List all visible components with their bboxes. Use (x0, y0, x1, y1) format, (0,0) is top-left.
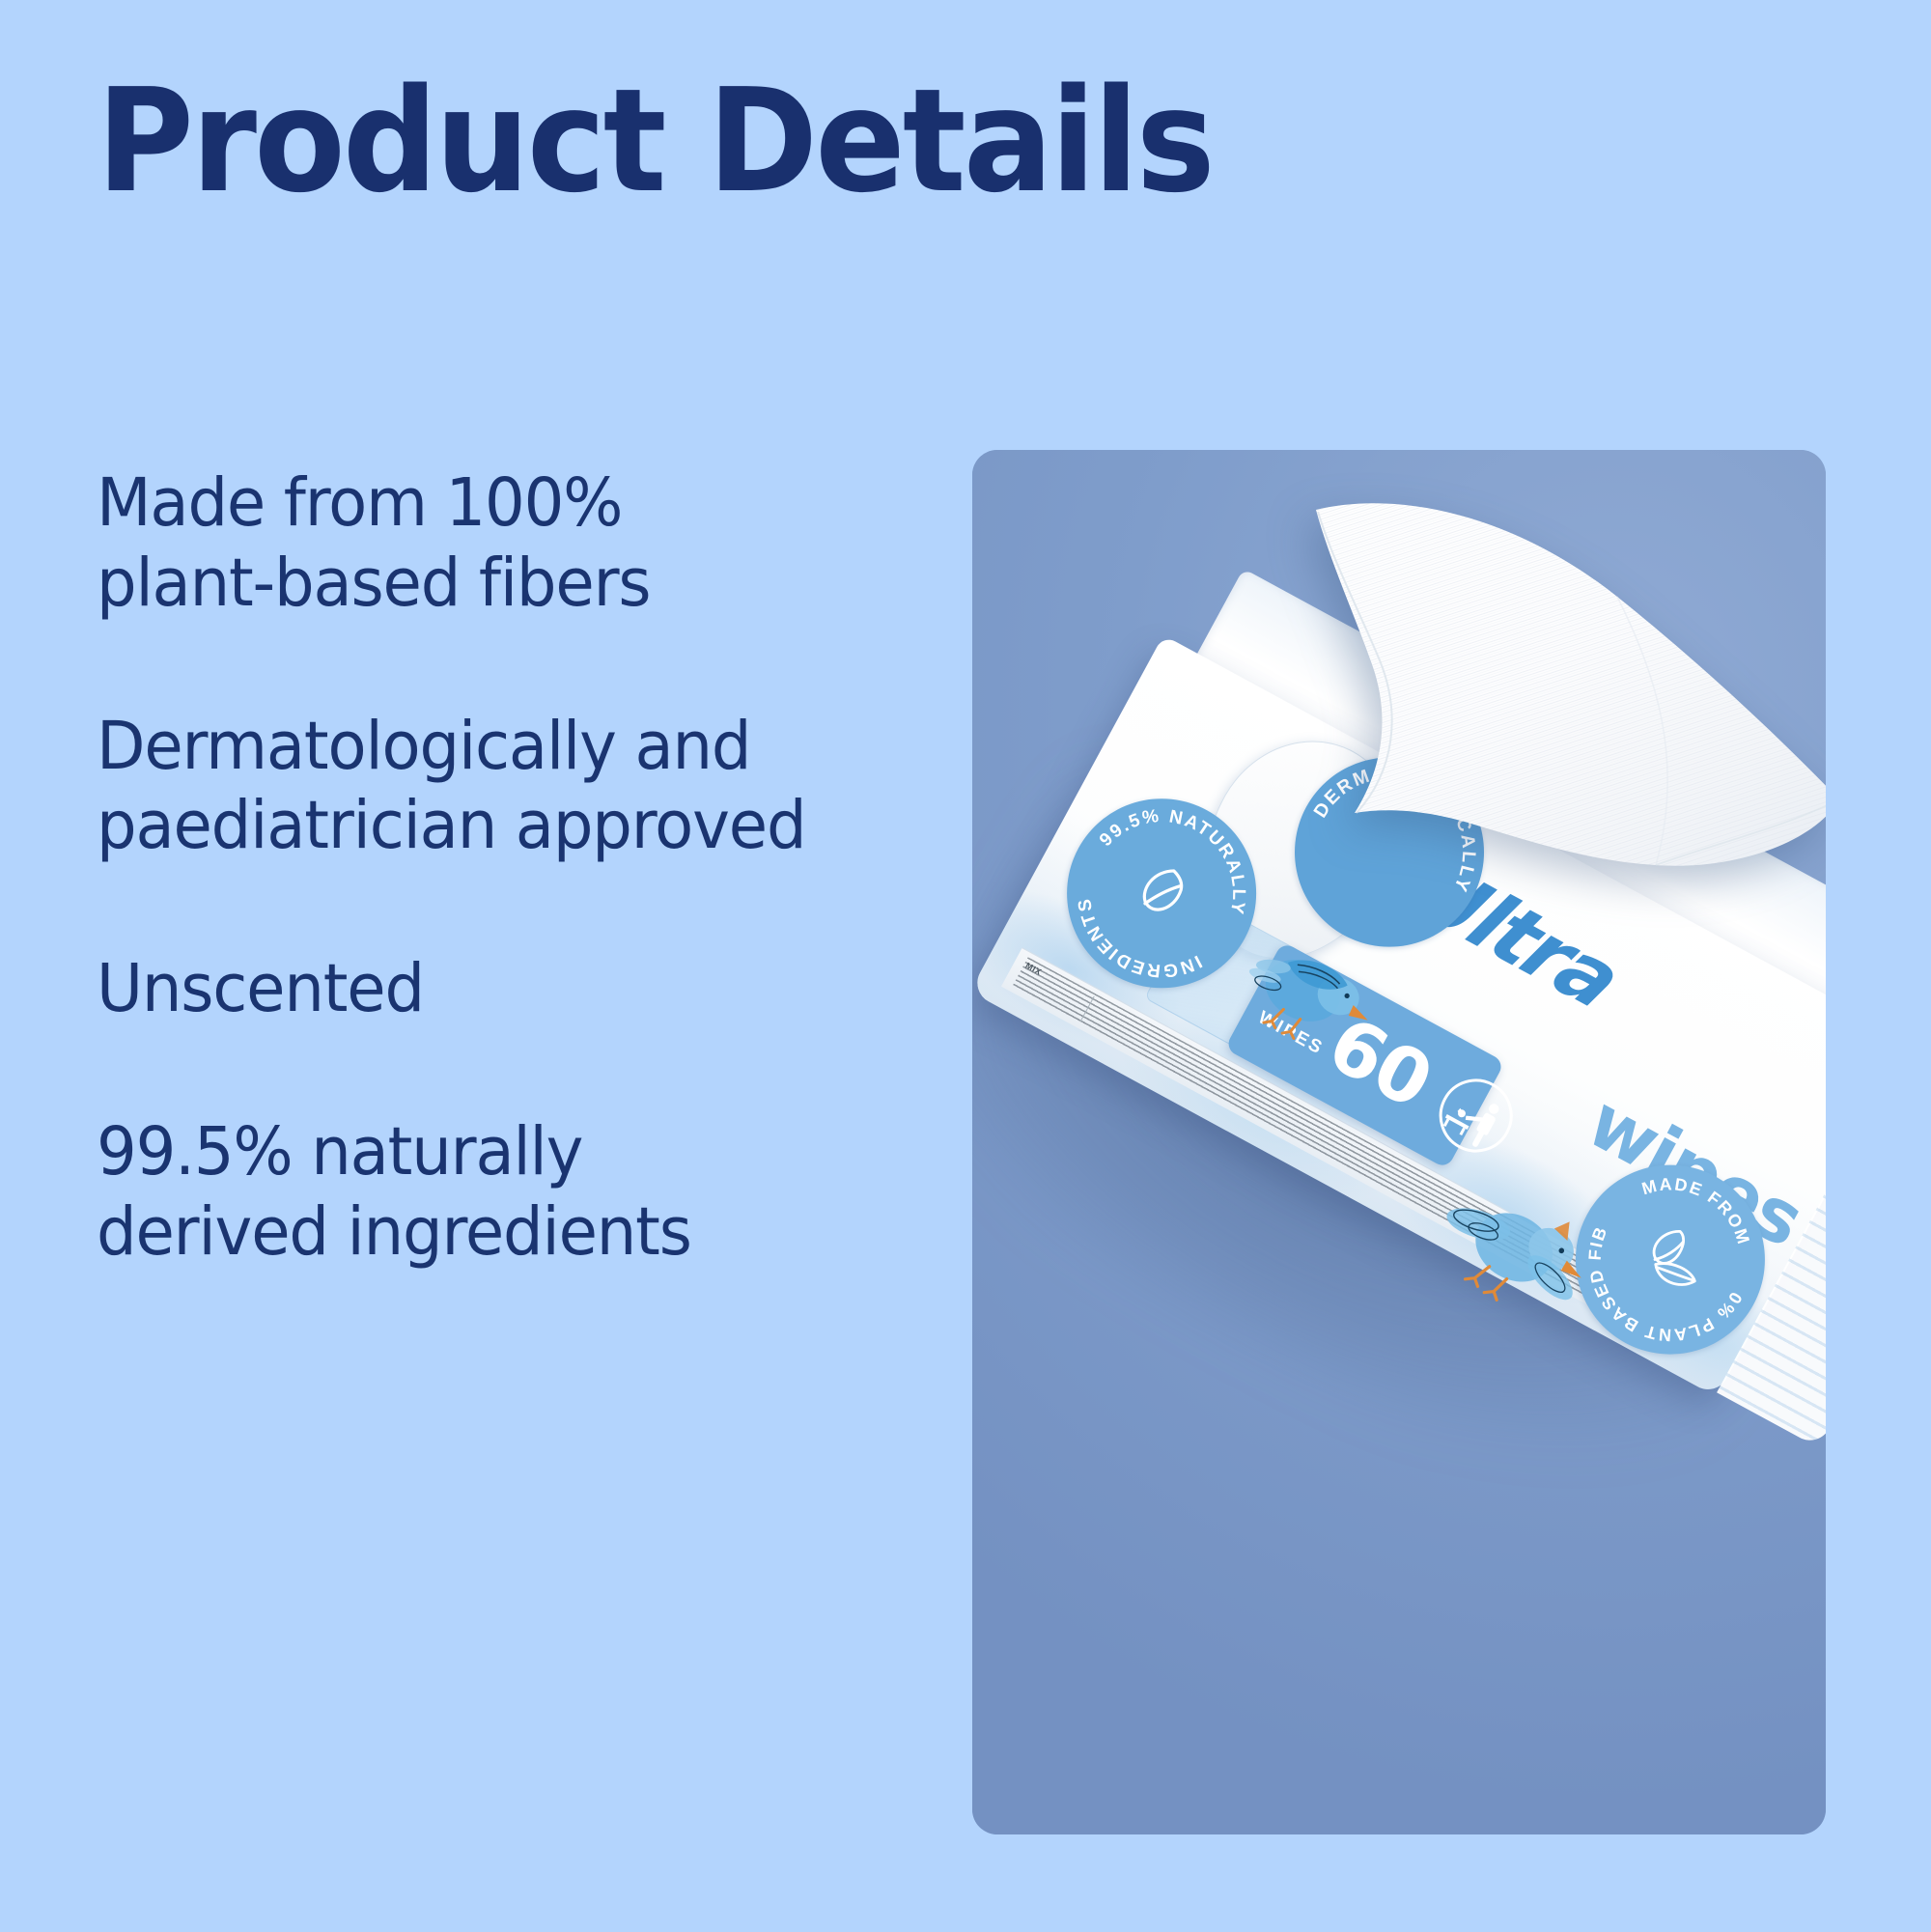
page-title: Product Details (97, 70, 1213, 212)
feature-item-unscented: Unscented (97, 949, 849, 1029)
feature-item-naturally-derived: 99.5% naturally derived ingredients (97, 1112, 849, 1273)
product-feature-list: Made from 100% plant-based fibers Dermat… (97, 463, 888, 1273)
feature-item-derm-approved: Dermatologically and paediatrician appro… (97, 707, 849, 867)
feature-item-plant-based: Made from 100% plant-based fibers (97, 463, 849, 624)
product-image-panel: MIX Ultra wipes DERMATOLOGICALLY (972, 450, 1826, 1834)
